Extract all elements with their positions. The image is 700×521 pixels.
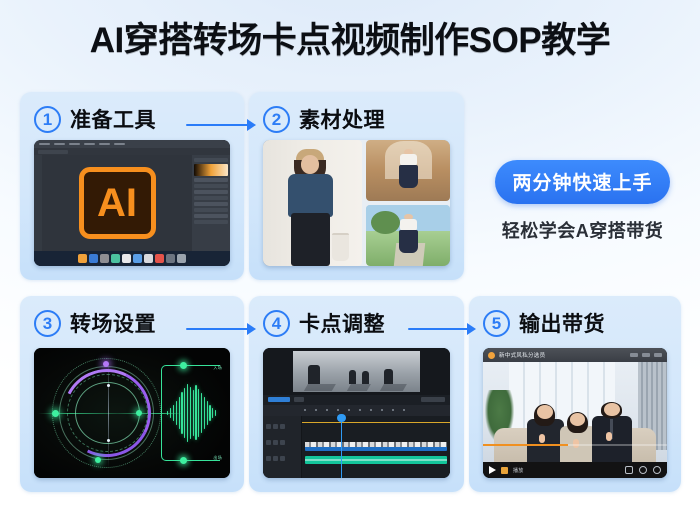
step-2-header: 2 素材处理 [249,92,464,136]
ground-shadow [304,384,336,391]
step-2-thumbnail[interactable] [263,140,450,266]
collage-photo-secondary-1 [366,140,450,201]
audio-waveform-line [305,459,447,461]
gradient-swatch-icon [194,164,228,176]
step-1-thumbnail[interactable]: AI [34,140,230,266]
thumbs-up-gesture [606,432,612,441]
illustrator-menubar [34,140,230,148]
model-skirt [399,230,418,253]
player-right-controls[interactable] [625,466,661,474]
step-card-2[interactable]: 2 素材处理 [249,92,464,280]
panel-row [194,178,228,182]
video-stage[interactable] [483,362,667,462]
app-logo-icon [488,352,495,359]
dock-icon-media [155,254,164,263]
silhouette-figure [349,370,357,385]
model-tote-bag [332,233,349,261]
marker-line [302,422,450,424]
quality-icon[interactable] [625,466,633,474]
collage-side-column [366,140,450,266]
track-headers[interactable] [263,416,302,478]
illustrator-panels [192,155,230,251]
presenter-right [590,402,636,462]
playhead-knob-icon[interactable] [337,414,346,423]
silhouette-figure [362,371,370,385]
panel-row [194,202,228,206]
clip-thumbnails [305,442,447,448]
step-2-title: 素材处理 [299,104,385,134]
arrow-step4-to-step5 [408,322,476,336]
player-titlebar-actions[interactable] [630,353,662,357]
toolbar-button-right[interactable] [421,397,445,402]
presenter-face [570,413,585,425]
panel-row [194,190,228,194]
panel-row [194,196,228,200]
fullscreen-icon[interactable] [653,466,661,474]
step-3-thumbnail[interactable]: 入场 出场 [34,348,230,478]
panel-row [194,184,228,188]
player-controls[interactable]: 播放 [483,462,667,478]
presenter-face [604,403,620,417]
step-1-title: 准备工具 [70,104,156,134]
step-card-5[interactable]: 5 输出带货 新中式风私分选员 [469,296,681,492]
dock-icon-mail [133,254,142,263]
model-skirt [399,165,418,188]
arrow-shaft [186,124,248,127]
menu-icon[interactable] [654,353,662,357]
sequence-tab[interactable] [268,397,290,402]
illustrator-canvas: AI [42,155,192,251]
step-5-thumbnail[interactable]: 新中式风私分选员 [483,348,667,478]
step-5-header: 5 输出带货 [469,296,681,340]
player-title-bar: 新中式风私分选员 [483,348,667,362]
dock-icon-terminal [166,254,175,263]
step-5-number-badge: 5 [483,310,510,337]
timeline-ruler[interactable] [263,405,450,415]
minimize-icon[interactable] [630,353,638,357]
promo-subtitle: 轻松学会A穿搭带货 [480,217,685,243]
illustrator-body: AI [34,155,230,251]
step-4-number-badge: 4 [263,310,290,337]
progress-bar[interactable] [483,444,667,447]
timeline-editor-window [263,348,450,478]
arrow-shaft [408,328,468,331]
panel-row [194,220,228,224]
step-3-title: 转场设置 [70,308,156,338]
progress-fill [483,444,568,447]
dock-icon-files [122,254,131,263]
track-header-video [266,420,298,433]
promo-badge[interactable]: 两分钟快速上手 [495,160,669,204]
toolbar-button[interactable] [294,397,304,402]
dock-icon-settings [100,254,109,263]
arrow-head-icon [247,119,256,131]
playhead[interactable] [341,416,343,478]
collage-photo-main [263,140,362,266]
track-header-extra [266,452,298,465]
bracket-node-out [180,457,187,464]
step-2-number-badge: 2 [263,106,290,133]
adobe-illustrator-logo-icon: AI [79,167,156,239]
dial-marker-lower [107,439,110,442]
next-button-icon[interactable] [501,467,508,474]
program-monitor [263,348,450,395]
ground-shadow [380,384,407,391]
editor-toolbar[interactable] [263,395,450,405]
presenter-face [537,405,553,419]
dock-icon-photos [144,254,153,263]
dial-node-bottom [95,457,101,463]
model-denim-jacket [288,174,334,217]
arrow-step3-to-step4 [186,322,256,336]
steps-board: 1 准备工具 AI [0,0,700,521]
bracket-label-in: 入场 [213,365,222,371]
arrow-shaft [186,328,248,331]
panel-row [194,208,228,212]
model-trousers [291,213,331,266]
play-button-icon[interactable] [489,466,496,474]
settings-icon[interactable] [642,353,650,357]
dock-icon-trash [177,254,186,263]
silhouette-figure [308,365,319,385]
bracket-label-out: 出场 [213,455,222,461]
illustrator-logo-text: AI [97,183,137,223]
arrow-step1-to-step2 [186,118,256,132]
dock-icon-finder [78,254,87,263]
step-1-number-badge: 1 [34,106,61,133]
video-player[interactable]: 新中式风私分选员 [483,348,667,478]
video-title: 新中式风私分选员 [499,351,545,359]
preview-frame [293,351,420,392]
dial-ring-inner [75,382,140,444]
step-3-number-badge: 3 [34,310,61,337]
loop-icon[interactable] [639,466,647,474]
track-area[interactable] [263,416,450,478]
arrow-head-icon [247,323,256,335]
collage-photo-secondary-2 [366,205,450,266]
step-4-thumbnail[interactable] [263,348,450,478]
dial-node-top [103,361,109,367]
ground-shadow [347,384,371,391]
timeline-tracks[interactable] [302,416,450,478]
transition-dial-visual: 入场 出场 [34,348,230,478]
silhouette-figure [384,369,393,385]
illustrator-window: AI [34,140,230,266]
os-dock [34,251,230,266]
panel-row [194,158,228,162]
audio-waveform [167,383,216,443]
dock-icon-notes [111,254,120,263]
step-5-title: 输出带货 [519,308,605,338]
arrow-head-icon [467,323,476,335]
photo-collage [263,140,450,266]
tree [371,211,400,234]
panel-row [194,214,228,218]
promo-block: 两分钟快速上手 轻松学会A穿搭带货 [480,160,685,243]
illustrator-document-tab [34,148,230,155]
audio-clip[interactable] [305,456,447,464]
track-header-audio [266,436,298,449]
step-4-title: 卡点调整 [299,308,385,338]
dock-icon-browser [89,254,98,263]
illustrator-toolbar [34,155,42,251]
player-time-label: 播放 [513,467,524,474]
